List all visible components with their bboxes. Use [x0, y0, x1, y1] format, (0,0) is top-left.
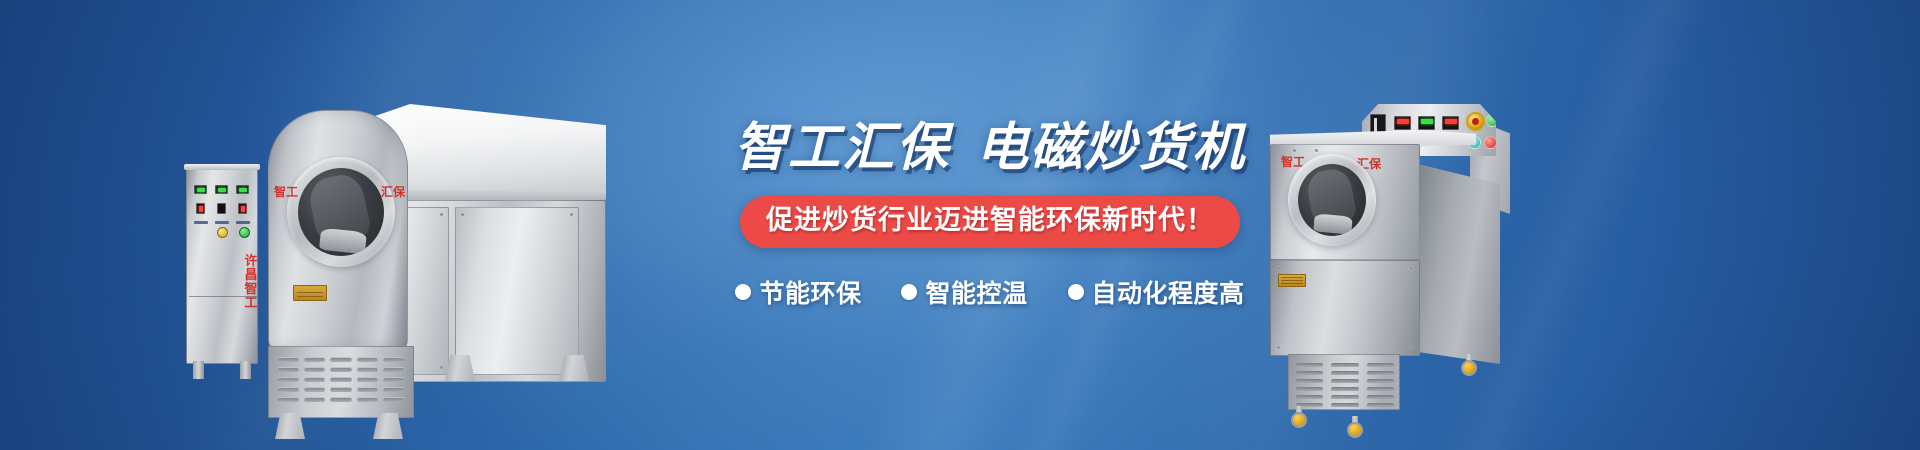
machine-right-drum-port	[1288, 154, 1376, 246]
feature-list: 节能环保 智能控温 自动化程度高	[690, 274, 1290, 310]
machine-left-brand-right: 汇保	[381, 183, 405, 200]
machine-right-side-panel	[1418, 164, 1500, 364]
machine-left-side-text: 许昌智工	[242, 254, 260, 310]
feature-item-2: 智能控温	[901, 274, 1027, 310]
caster-wheel-1	[1291, 412, 1307, 428]
machine-left-drum-port	[287, 157, 395, 267]
tagline-text: 促进炒货行业迈进智能环保新时代！	[766, 204, 1214, 238]
headline-part-2: 电磁炒货机	[976, 119, 1246, 177]
feature-label-3: 自动化程度高	[1092, 274, 1245, 310]
emergency-stop-icon[interactable]	[1466, 112, 1485, 131]
product-image-compact-roaster: 智工 汇保	[1270, 104, 1532, 434]
push-button-red[interactable]	[1484, 136, 1497, 149]
banner-copy: 智工汇保电磁炒货机 促进炒货行业迈进智能环保新时代！ 节能环保 智能控温 自动化…	[690, 120, 1290, 310]
machine-left-vents	[277, 357, 405, 409]
feature-label-1: 节能环保	[759, 274, 861, 310]
caster-wheel-2	[1347, 422, 1363, 438]
tagline-ribbon: 促进炒货行业迈进智能环保新时代！	[740, 196, 1240, 248]
bullet-dot-icon	[735, 284, 751, 300]
bullet-dot-icon	[1068, 284, 1084, 300]
bullet-dot-icon	[901, 284, 917, 300]
caster-wheel-3	[1461, 360, 1477, 376]
machine-left-vent-panel	[268, 346, 414, 418]
machine-left-nameplate	[293, 285, 327, 301]
machine-right-vents	[1296, 363, 1394, 403]
machine-left-door-2	[455, 207, 579, 375]
feature-item-1: 节能环保	[735, 274, 861, 310]
headline-part-1: 智工汇保	[734, 119, 950, 177]
machine-right-vent-skirt	[1288, 354, 1400, 410]
product-image-large-roaster: 许昌智工	[186, 104, 606, 434]
push-button-green[interactable]	[1486, 114, 1499, 127]
feature-label-2: 智能控温	[925, 274, 1027, 310]
push-button-blue[interactable]	[1502, 114, 1515, 127]
page-title: 智工汇保电磁炒货机	[690, 120, 1290, 176]
promo-banner: 许昌智工	[0, 0, 1920, 450]
machine-left-brand-left: 智工	[274, 183, 298, 200]
machine-left-drum: 智工 汇保	[268, 110, 408, 350]
feature-item-3: 自动化程度高	[1068, 274, 1245, 310]
